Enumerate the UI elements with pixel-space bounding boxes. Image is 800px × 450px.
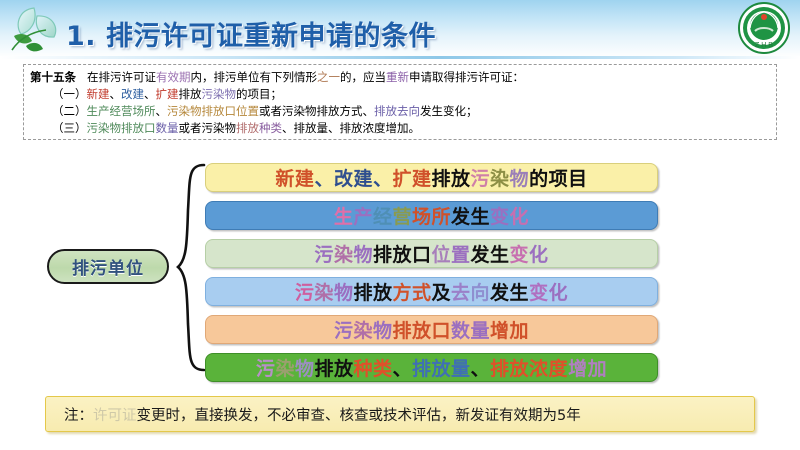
text-run: 变 [490,206,510,228]
text-run: 生产经营场所 [87,104,156,118]
new-build-box-label: 新建、改建、扩建排放污染物的项目 [275,164,587,191]
text-run: 、 [373,168,393,190]
discharge-mode-box-label: 污染物排放方式及去向发生变化 [295,278,568,305]
text-run: 化 [549,282,569,304]
text-run: 发生 [471,244,510,266]
text-run: 第十五条 [30,70,76,84]
text-run: 注： [64,408,93,424]
polluting-unit-node: 排污单位 [47,249,169,284]
text-run: 种类 [259,121,282,135]
text-run: 污染物排放口位置 [167,104,259,118]
text-run: 或者污染物排放方式、 [259,104,374,118]
text-run: 之一 [317,70,340,84]
text-run: 、排放量、排放浓度增加。 [282,121,420,135]
regulation-text-box: 第十五条 在排污许可证有效期内，排污单位有下列情形之一的，应当重新申请取得排污许… [23,64,777,140]
text-run: 新建 [87,87,110,101]
text-run: 污 [314,244,334,266]
outlet-location-box-label: 污染物排放口位置发生变化 [314,240,548,267]
text-run: 排放量 [412,358,471,380]
text-run: 变 [529,282,549,304]
polluting-unit-label: 排污单位 [72,254,144,279]
text-run: 污染物 [202,87,237,101]
text-run: 、 [393,358,413,380]
text-run: 数量 [156,121,179,135]
text-run: 染 [353,320,373,342]
text-run: 式 [412,282,432,304]
text-run: 染 [334,244,354,266]
production-site-box-label: 生产经营场所发生变化 [334,202,529,229]
text-run: 排放 [236,121,259,135]
text-run: 生 [334,206,354,228]
text-run: 、 [144,87,156,101]
text-run: 排放 [179,87,202,101]
text-run: 位 [431,244,451,266]
text-run: 增加 [490,320,529,342]
text-run: 发生变化； [420,104,478,118]
text-run: 污 [471,168,491,190]
text-run: （三） [52,121,87,135]
text-run: 扩建 [392,168,431,190]
text-run: 新建 [275,168,314,190]
text-run: 经 [373,206,393,228]
note-text: 注：许可证变更时，直接换发，不必审查、核查或技术评估，新发证有效期为5年 [46,404,581,425]
text-run: 方 [392,282,412,304]
text-run: 所 [432,206,452,228]
emblem-text: Z H B [755,42,773,49]
production-site-box: 生产经营场所发生变化 [205,201,658,230]
text-run: 向 [471,282,491,304]
text-run: 污染物排放口 [87,121,156,135]
text-run: 污 [256,358,276,380]
text-run: 、 [471,358,491,380]
text-run: 扩建 [156,87,179,101]
regulation-line-1: （一）新建、改建、扩建排放污染物的项目； [30,86,770,103]
text-run: 的项目； [236,87,282,101]
text-run: 排放 [314,358,353,380]
text-run: 、 [314,168,334,190]
text-run: 改建 [121,87,144,101]
text-run: 发生 [451,206,490,228]
discharge-mode-box: 污染物排放方式及去向发生变化 [205,277,658,306]
text-run: 改建 [334,168,373,190]
text-run: 及 [432,282,452,304]
note-box: 注：许可证变更时，直接换发，不必审查、核查或技术评估，新发证有效期为5年 [45,396,755,432]
text-run: 化 [529,244,549,266]
text-run: 化 [510,206,530,228]
slide-canvas: Z H B 1. 排污许可证重新申请的条件 第十五条 在排污许可证有效期内，排污… [0,0,800,450]
text-run: 重新 [386,70,409,84]
text-run: 排放 [353,282,392,304]
text-run: 发生 [490,282,529,304]
text-run: 、 [110,87,122,101]
text-run: 变更时，直接换发，不必审查、核查或技术评估，新发证有效期为5年 [137,408,581,424]
discharge-increase-box-label: 污染物排放种类、排放量、排放浓度增加 [256,354,607,381]
text-run: 排放口 [392,320,451,342]
text-run: 物 [353,244,373,266]
text-run: 物 [510,168,530,190]
outlet-count-box: 污染物排放口数量增加 [205,315,658,344]
text-run: （一） [52,87,87,101]
text-run: 、 [156,104,168,118]
regulation-line-2: （二）生产经营场所、污染物排放口位置或者污染物排放方式、排放去向发生变化； [30,103,770,120]
text-run: 场 [412,206,432,228]
text-run: 或者污染物 [179,121,237,135]
text-run: （二） [52,104,87,118]
new-build-box: 新建、改建、扩建排放污染物的项目 [205,163,658,192]
text-run: 排放去向 [374,104,420,118]
text-run: 置 [451,244,471,266]
discharge-increase-box: 污染物排放种类、排放量、排放浓度增加 [205,353,658,382]
text-run: 物 [295,358,315,380]
text-run: 排放 [432,168,471,190]
text-run: 污 [334,320,354,342]
outlet-location-box: 污染物排放口位置发生变化 [205,239,658,268]
text-run: 的项目 [529,168,588,190]
page-title: 1. 排污许可证重新申请的条件 [66,14,436,53]
text-run: 排放浓度 [490,358,568,380]
text-run: 种类 [353,358,392,380]
text-run: 的，应当 [340,70,386,84]
zhb-emblem-icon: Z H B [738,2,790,54]
text-run: 物 [334,282,354,304]
text-run: 排放口 [373,244,432,266]
text-run: 去 [451,282,471,304]
regulation-line-3: （三）污染物排放口数量或者污染物排放种类、排放量、排放浓度增加。 [30,120,770,137]
text-run: 内，排污单位有下列情形 [190,70,317,84]
text-run: 变 [510,244,530,266]
text-run: 增加 [568,358,607,380]
text-run: 产 [353,206,373,228]
outlet-count-box-label: 污染物排放口数量增加 [334,316,529,343]
text-run: 污 [295,282,315,304]
text-run: 营 [392,206,412,228]
regulation-line-0: 第十五条 在排污许可证有效期内，排污单位有下列情形之一的，应当重新申请取得排污许… [30,69,770,86]
text-run: 数 [451,320,471,342]
text-run: 申请取得排污许可证： [409,70,524,84]
text-run: 许可证 [93,408,137,424]
curly-brace-icon [160,160,208,375]
leaf-logo-icon [4,2,66,56]
text-run: 在排污许可证 [76,70,156,84]
text-run: 染 [490,168,510,190]
header-divider [0,56,800,59]
text-run: 物 [373,320,393,342]
text-run: 量 [471,320,491,342]
text-run: 有效期 [156,70,191,84]
text-run: 染 [314,282,334,304]
text-run: 染 [275,358,295,380]
